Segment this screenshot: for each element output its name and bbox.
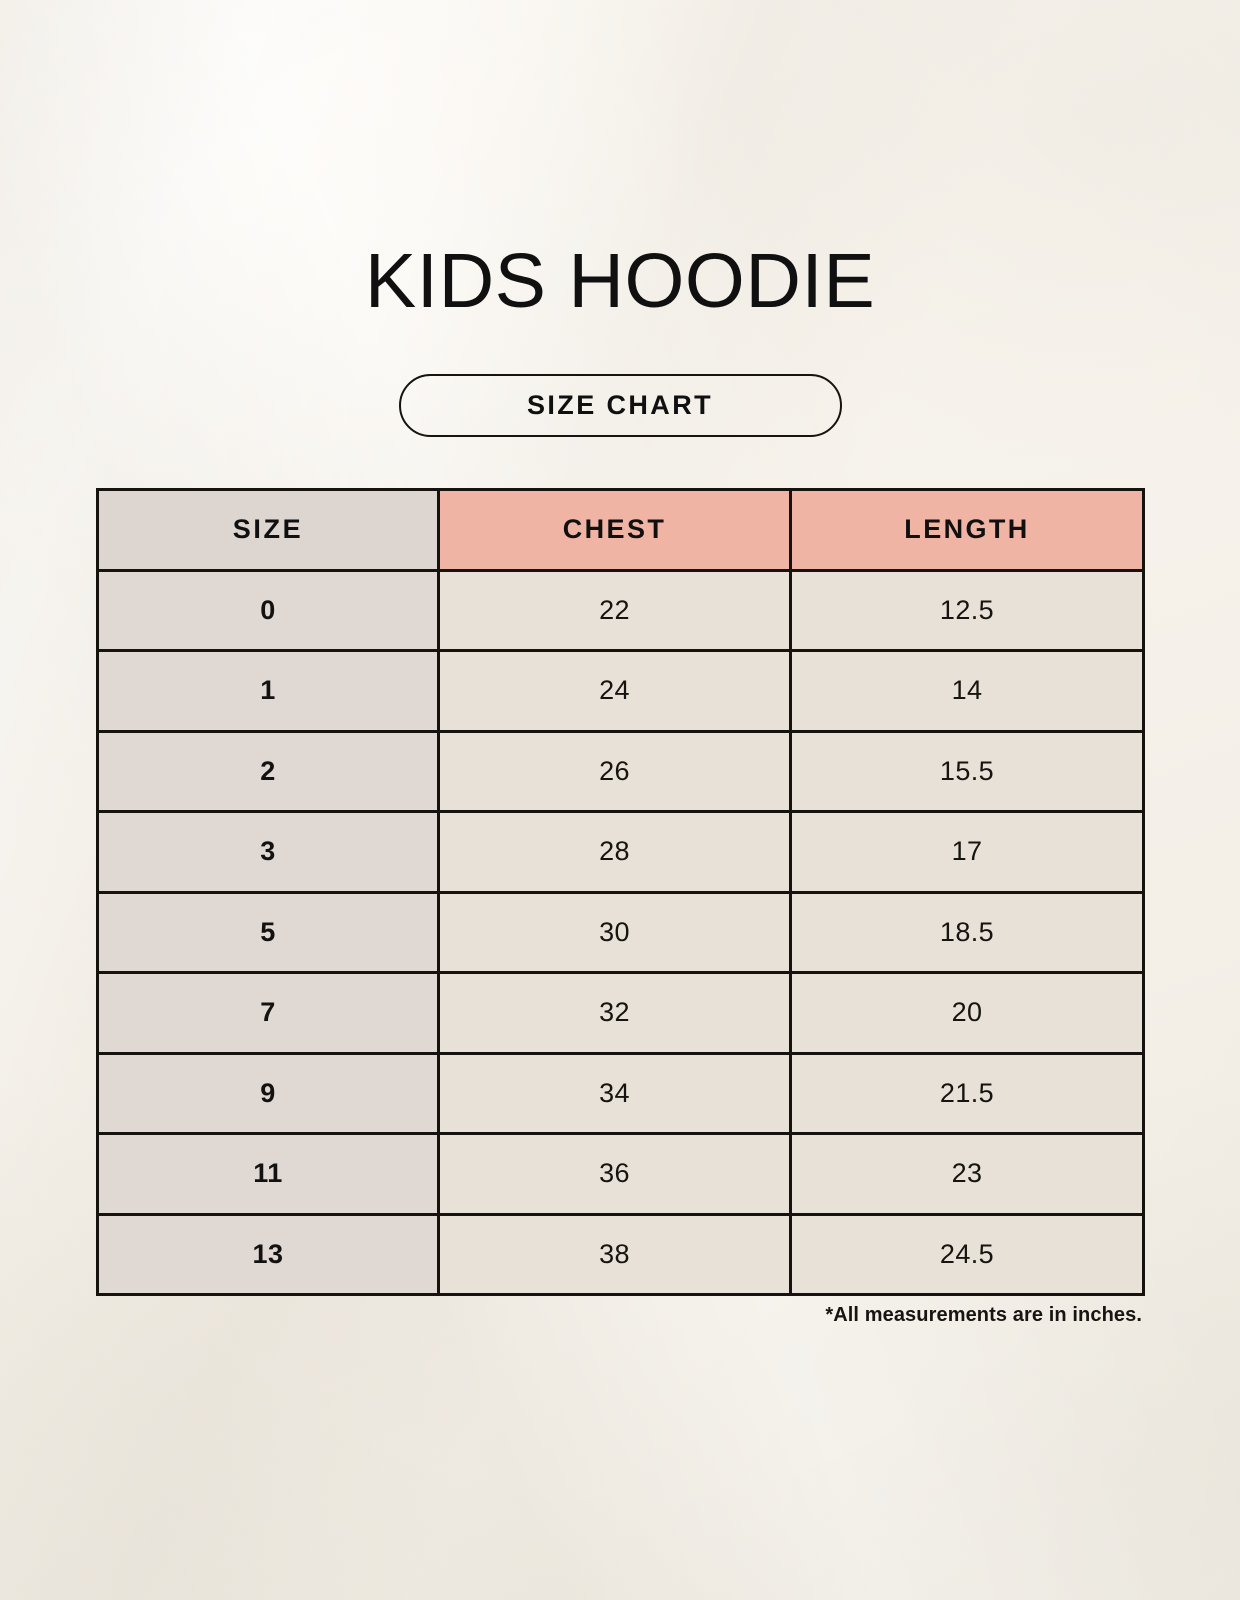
cell-size: 1 xyxy=(98,651,439,732)
measurement-footnote: *All measurements are in inches. xyxy=(96,1304,1142,1327)
cell-size: 11 xyxy=(98,1134,439,1215)
table-row: 53018.5 xyxy=(98,892,1144,973)
cell-size: 0 xyxy=(98,570,439,651)
cell-chest: 30 xyxy=(439,892,791,973)
cell-length: 14 xyxy=(791,651,1144,732)
table-row: 93421.5 xyxy=(98,1053,1144,1134)
cell-length: 18.5 xyxy=(791,892,1144,973)
cell-chest: 22 xyxy=(439,570,791,651)
page-title: KIDS HOODIE xyxy=(0,243,1240,320)
cell-size: 2 xyxy=(98,731,439,812)
cell-size: 3 xyxy=(98,812,439,893)
size-table-container: SIZE CHEST LENGTH 02212.51241422615.5328… xyxy=(96,488,1142,1296)
cell-size: 13 xyxy=(98,1214,439,1295)
table-header-row: SIZE CHEST LENGTH xyxy=(98,490,1144,571)
table-row: 02212.5 xyxy=(98,570,1144,651)
column-header-size: SIZE xyxy=(98,490,439,571)
cell-chest: 26 xyxy=(439,731,791,812)
cell-length: 23 xyxy=(791,1134,1144,1215)
table-row: 12414 xyxy=(98,651,1144,732)
table-row: 32817 xyxy=(98,812,1144,893)
column-header-length: LENGTH xyxy=(791,490,1144,571)
cell-length: 17 xyxy=(791,812,1144,893)
cell-chest: 24 xyxy=(439,651,791,732)
cell-size: 5 xyxy=(98,892,439,973)
badge-container: SIZE CHART xyxy=(0,374,1240,437)
cell-length: 24.5 xyxy=(791,1214,1144,1295)
table-row: 22615.5 xyxy=(98,731,1144,812)
cell-chest: 28 xyxy=(439,812,791,893)
table-header: SIZE CHEST LENGTH xyxy=(98,490,1144,571)
cell-chest: 34 xyxy=(439,1053,791,1134)
cell-length: 15.5 xyxy=(791,731,1144,812)
cell-length: 20 xyxy=(791,973,1144,1054)
cell-chest: 38 xyxy=(439,1214,791,1295)
cell-length: 12.5 xyxy=(791,570,1144,651)
table-row: 133824.5 xyxy=(98,1214,1144,1295)
cell-size: 9 xyxy=(98,1053,439,1134)
table-row: 113623 xyxy=(98,1134,1144,1215)
cell-chest: 36 xyxy=(439,1134,791,1215)
table-body: 02212.51241422615.53281753018.5732209342… xyxy=(98,570,1144,1295)
column-header-chest: CHEST xyxy=(439,490,791,571)
size-chart-page: KIDS HOODIE SIZE CHART SIZE CHEST LENGTH… xyxy=(0,0,1240,1600)
cell-length: 21.5 xyxy=(791,1053,1144,1134)
size-chart-badge: SIZE CHART xyxy=(399,374,842,437)
table-row: 73220 xyxy=(98,973,1144,1054)
cell-chest: 32 xyxy=(439,973,791,1054)
size-chart-table: SIZE CHEST LENGTH 02212.51241422615.5328… xyxy=(96,488,1145,1296)
cell-size: 7 xyxy=(98,973,439,1054)
